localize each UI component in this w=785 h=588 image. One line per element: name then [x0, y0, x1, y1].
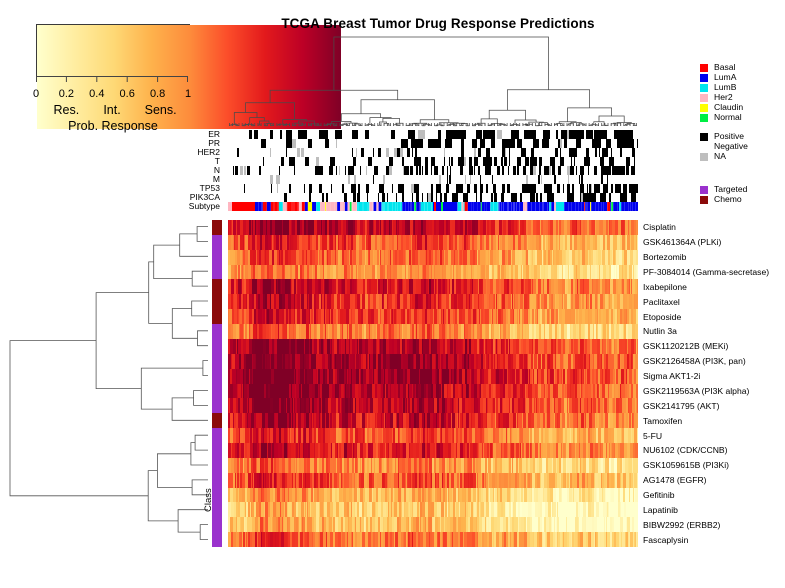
drug-label-20: BIBW2992 (ERBB2)	[643, 520, 720, 530]
drug-label-1: GSK461364A (PLKi)	[643, 237, 721, 247]
colorkey-tick-3: 0.6	[113, 88, 141, 100]
drug-label-8: GSK1120212B (MEKi)	[643, 341, 728, 351]
drug-label-2: Bortezomib	[643, 252, 686, 262]
colorkey-band-int: Int.	[89, 103, 135, 117]
drug-label-16: GSK1059615B (PI3Ki)	[643, 460, 729, 470]
drug-row-labels: CisplatinGSK461364A (PLKi)BortezomibPF-3…	[643, 220, 785, 547]
drug-label-6: Etoposide	[643, 312, 681, 322]
annot-row-er	[228, 130, 638, 139]
legend-subtype-swatch-normal-icon	[700, 114, 708, 122]
legend-subtype-label-claudin: Claudin	[714, 102, 743, 112]
annot-row-subtype-label: Subtype	[168, 202, 224, 211]
legend-subtype-swatch-claudin-icon	[700, 104, 708, 112]
drug-label-10: Sigma AKT1-2i	[643, 371, 700, 381]
drug-label-13: Tamoxifen	[643, 416, 682, 426]
colorkey-axis	[36, 76, 188, 88]
drug-label-4: Ixabepilone	[643, 282, 687, 292]
drug-label-9: GSK2126458A (PI3K, pan)	[643, 356, 746, 366]
annot-row-subtype	[228, 202, 638, 211]
legend-subtype-label-basal: Basal	[714, 62, 736, 72]
annot-row-pr	[228, 139, 638, 148]
annot-row-tp53	[228, 184, 638, 193]
legend-subtype-swatch-her2-icon	[700, 94, 708, 102]
drug-label-17: AG1478 (EGFR)	[643, 475, 707, 485]
drug-label-5: Paclitaxel	[643, 297, 680, 307]
drug-label-15: NU6102 (CDK/CCNB)	[643, 445, 728, 455]
drug-label-7: Nutlin 3a	[643, 326, 677, 336]
column-dendrogram	[228, 34, 638, 126]
row-dendrogram	[4, 219, 208, 547]
annot-row-t	[228, 157, 638, 166]
drug-label-3: PF-3084014 (Gamma-secretase)	[643, 267, 769, 277]
annot-row-n	[228, 166, 638, 175]
legend-subtype-label-lumb: LumB	[714, 82, 736, 92]
colorkey-tick-labels: 00.20.40.60.81	[22, 88, 204, 102]
drug-label-0: Cisplatin	[643, 222, 676, 232]
colorkey-tick-0: 0	[22, 88, 50, 100]
legend-status-swatch-na-icon	[700, 153, 708, 161]
colorkey-band-res: Res.	[43, 103, 89, 117]
colorkey-band-labels: Res.Int.Sens.	[22, 103, 204, 118]
legend-class-swatch-chemo-icon	[700, 196, 708, 204]
colorkey-tick-5: 1	[174, 88, 202, 100]
legend-subtype-swatch-basal-icon	[700, 64, 708, 72]
colorkey-band-sens: Sens.	[138, 103, 184, 117]
legend-subtype-label-normal: Normal	[714, 112, 742, 122]
legend-status-swatch-negative-icon	[700, 143, 708, 151]
legend-class-label-chemo: Chemo	[714, 194, 742, 204]
legend-class-swatch-targeted-icon	[700, 186, 708, 194]
colorkey-tick-4: 0.8	[144, 88, 172, 100]
page-title: TCGA Breast Tumor Drug Response Predicti…	[228, 16, 648, 31]
annot-row-her2	[228, 148, 638, 157]
annot-row-pik3ca	[228, 193, 638, 202]
legend-status-label-positive: Positive	[714, 131, 744, 141]
legend-subtype-swatch-lumb-icon	[700, 84, 708, 92]
annotation-row-labels: ERPRHER2TNMTP53PIK3CASubtype	[168, 130, 224, 211]
colorkey-gradient	[36, 24, 190, 78]
legend-status-swatch-positive-icon	[700, 133, 708, 141]
drug-label-18: Gefitinib	[643, 490, 675, 500]
drug-label-12: GSK2141795 (AKT)	[643, 401, 719, 411]
legend-subtype-label-luma: LumA	[714, 72, 736, 82]
legend-subtype-swatch-luma-icon	[700, 74, 708, 82]
legend-status-label-na: NA	[714, 151, 726, 161]
legend-status-label-negative: Negative	[714, 141, 748, 151]
drug-label-11: GSK2119563A (PI3K alpha)	[643, 386, 749, 396]
drug-label-14: 5-FU	[643, 431, 662, 441]
annotation-track-stack	[228, 130, 638, 211]
drug-label-21: Fascaplysin	[643, 535, 688, 545]
drug-label-19: Lapatinib	[643, 505, 678, 515]
legend-class-label-targeted: Targeted	[714, 184, 747, 194]
colorkey-tick-2: 0.4	[83, 88, 111, 100]
class-axis-label: Class	[203, 452, 217, 512]
annot-row-m	[228, 175, 638, 184]
heatmap-body	[228, 220, 638, 547]
colorkey-tick-1: 0.2	[52, 88, 80, 100]
legend-subtype-label-her2: Her2	[714, 92, 733, 102]
